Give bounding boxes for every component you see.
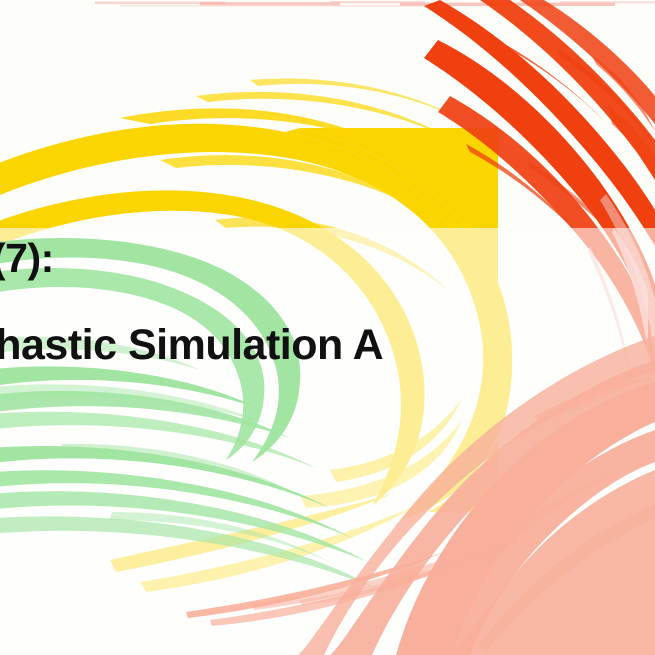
thumbnail-card: c Model (7): pie Stochastic Simulation A xyxy=(0,0,655,655)
abstract-swirl-artwork xyxy=(0,0,655,655)
